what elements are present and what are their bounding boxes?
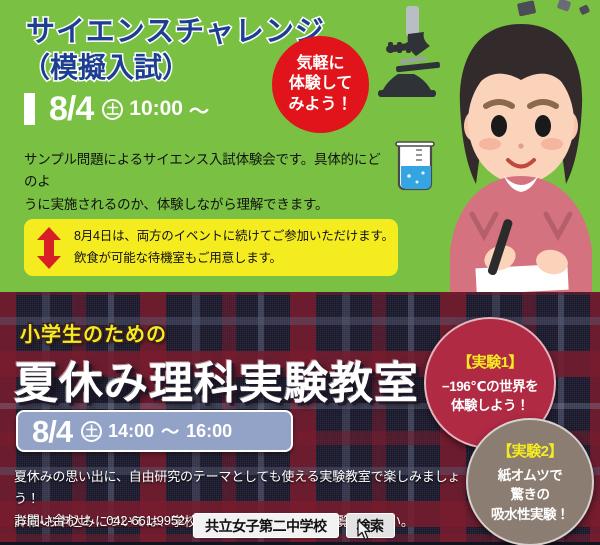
bottom-event-date: 8/4 [32,416,72,447]
top-event-weekday: 土 [102,99,123,120]
top-event-description-line1: サンプル問題によるサイエンス入試体験会です。具体的にどのよ [24,149,392,194]
try-it-badge: 気軽に 体験して みよう！ [272,36,369,133]
bottom-event-time-separator: 〜 [161,418,179,444]
experiment-1-label: 【実験1】 [457,351,523,372]
bottom-event-time-end: 16:00 [186,421,232,442]
experiment-2-line2: 驚きの [491,485,569,504]
combined-events-callout: 8月4日は、両方のイベントに続けてご参加いただけます。 飲食が可能な待機室もご用… [24,219,398,276]
page-title: サイエンスチャレンジ [26,8,325,50]
contact-telephone: 042-661-9952 [106,513,185,528]
search-input[interactable]: 共立女子第二中学校 [193,513,339,538]
top-event-date-row: 8/4 土 10:00 〜 [24,92,209,126]
flyer-poster: サイエンスチャレンジ （模擬入試） 8/4 土 10:00 〜 サンプル問題によ… [0,0,600,545]
top-event-time-suffix: 〜 [189,95,209,124]
top-event-description: サンプル問題によるサイエンス入試体験会です。具体的にどのよ うに実施されるのか、… [24,149,392,216]
experiment-2-badge: 【実験2】 紙オムツで 驚きの 吸水性実験！ [466,418,594,545]
contact-label: お問い合わせ [14,513,91,528]
experiment-2-text: 紙オムツで 驚きの 吸水性実験！ [491,466,569,523]
experiment-1-line1: −196℃の世界を [442,377,538,396]
search-widget[interactable]: 共立女子第二中学校 検索 [193,513,395,538]
bottom-event-description-line1: 夏休みの思い出に、自由研究のテーマとしても使える実験教室で楽しみましょう！ [14,466,484,511]
experiment-2-label: 【実験2】 [497,440,563,461]
experiment-2-line3: 吸水性実験！ [491,505,569,524]
experiment-1-text: −196℃の世界を 体験しよう！ [442,377,538,415]
girl-writing-illustration [442,18,600,292]
callout-line1: 8月4日は、両方のイベントに続けてご参加いただけます。 [74,226,394,247]
bottom-event-time-start: 14:00 [108,421,154,442]
experiment-1-line2: 体験しよう！ [442,396,538,415]
callout-line2: 飲食が可能な待機室もご用意します。 [74,248,394,269]
up-down-arrow-icon [36,227,62,269]
top-event-date: 8/4 [49,92,93,126]
beaker-icon [392,140,438,198]
page-subtitle: （模擬入試） [22,46,190,86]
top-event-time: 10:00 [129,97,183,121]
bottom-event-kicker: 小学生のための [20,318,167,347]
try-it-badge-line1: 気軽に [296,54,344,74]
try-it-badge-line3: みよう！ [288,95,352,115]
experiment-2-line1: 紙オムツで [491,466,569,485]
contact-info: お問い合わせ 042-661-9952 [14,510,185,529]
bottom-event-date-box: 8/4 土 14:00 〜 16:00 [16,410,293,452]
science-challenge-section: サイエンスチャレンジ （模擬入試） 8/4 土 10:00 〜 サンプル問題によ… [0,0,600,292]
search-button[interactable]: 検索 [346,513,395,538]
bottom-event-weekday: 土 [81,421,102,442]
combined-events-callout-text: 8月4日は、両方のイベントに続けてご参加いただけます。 飲食が可能な待機室もご用… [74,226,394,269]
date-accent-bar [24,93,35,125]
bottom-event-headline: 夏休み理科実験教室 [14,347,419,411]
try-it-badge-line2: 体験して [289,74,353,94]
top-event-description-line2: うに実施されるのか、体験しながら理解できます。 [24,194,392,216]
